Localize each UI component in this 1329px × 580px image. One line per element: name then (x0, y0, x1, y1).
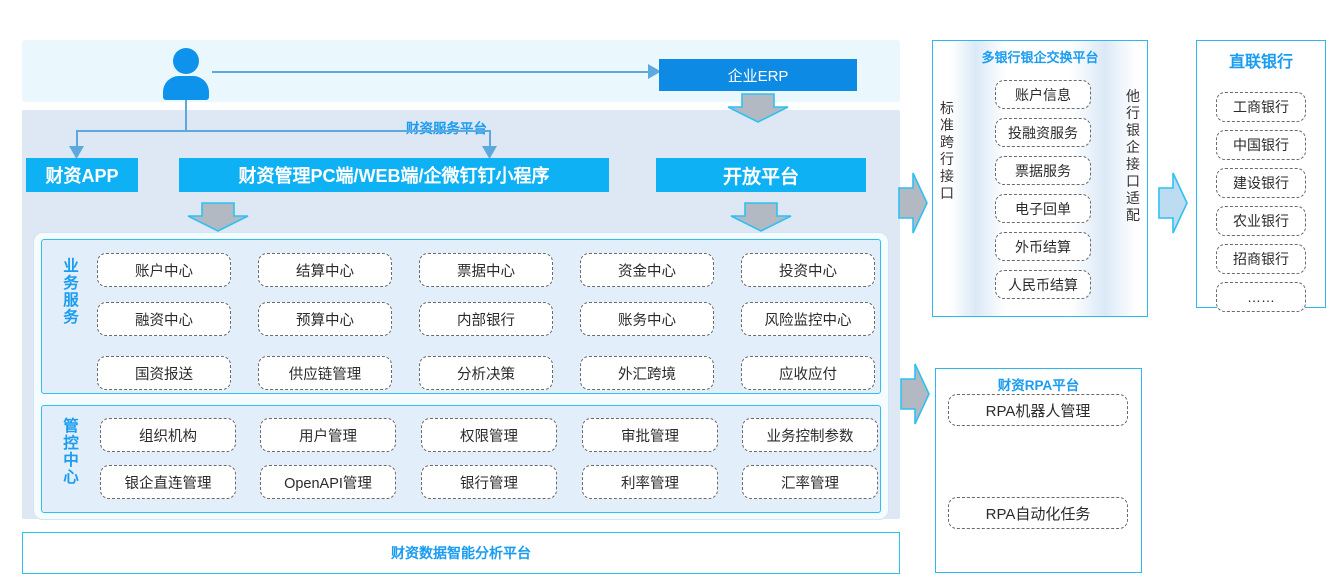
business-service-cell[interactable]: 供应链管理 (258, 356, 392, 390)
cell-label: 账户中心 (135, 260, 193, 281)
multi-bank-item[interactable]: 投融资服务 (995, 118, 1091, 147)
cell-label: 账户信息 (1015, 85, 1071, 105)
management-center-cell[interactable]: 银企直连管理 (100, 465, 236, 499)
management-center-label: 管 控 中 心 (60, 418, 82, 486)
cell-label: 汇率管理 (781, 472, 839, 493)
management-center-cell[interactable]: 用户管理 (260, 418, 396, 452)
standard-interface-vertical-label: 标 准 跨 行 接 口 (937, 100, 957, 202)
right-arrow-icon-directbank (1158, 172, 1188, 234)
cell-label: 建设银行 (1233, 173, 1289, 193)
cell-label: 内部银行 (457, 309, 515, 330)
enterprise-erp-label: 企业ERP (728, 65, 789, 86)
cell-label: 分析决策 (457, 363, 515, 384)
cell-label: 投资中心 (779, 260, 837, 281)
direct-banks-title: 直联银行 (1196, 48, 1326, 72)
cell-label: 招商银行 (1233, 249, 1289, 269)
cell-label: 业务控制参数 (767, 425, 854, 446)
cell-label: 融资中心 (135, 309, 193, 330)
management-center-cell[interactable]: 银行管理 (421, 465, 557, 499)
business-service-cell[interactable]: 账户中心 (97, 253, 231, 287)
treasury-app-label: 财资APP (45, 162, 118, 188)
business-service-cell[interactable]: 风险监控中心 (741, 302, 875, 336)
service-platform-title: 财资服务平台 (406, 117, 487, 137)
cell-label: 农业银行 (1233, 211, 1289, 231)
cell-label: 工商银行 (1233, 97, 1289, 117)
cell-label: 供应链管理 (289, 363, 362, 384)
business-service-cell[interactable]: 应收应付 (741, 356, 875, 390)
cell-label: 账务中心 (618, 309, 676, 330)
business-service-cell[interactable]: 预算中心 (258, 302, 392, 336)
cell-label: …… (1247, 289, 1275, 305)
business-service-cell[interactable]: 分析决策 (419, 356, 553, 390)
business-service-cell[interactable]: 内部银行 (419, 302, 553, 336)
management-center-cell[interactable]: 审批管理 (582, 418, 718, 452)
rpa-item[interactable]: RPA自动化任务 (948, 497, 1128, 529)
cell-label: 外币结算 (1015, 237, 1071, 257)
rpa-platform-title: 财资RPA平台 (935, 374, 1142, 394)
direct-bank-item[interactable]: 中国银行 (1216, 130, 1306, 160)
cell-label: 组织机构 (139, 425, 197, 446)
open-platform-label: 开放平台 (723, 162, 799, 189)
user-icon-head (173, 48, 199, 74)
cell-label: 投融资服务 (1008, 123, 1078, 143)
rpa-item[interactable]: RPA机器人管理 (948, 394, 1128, 426)
open-platform-button[interactable]: 开放平台 (656, 158, 866, 192)
tree-bar (76, 130, 490, 132)
architecture-diagram: 企业ERP 财资服务平台 财资APP 财资管理PC端/WEB端/企微钉钉小程序 … (0, 0, 1329, 580)
cell-label: 利率管理 (621, 472, 679, 493)
management-center-cell[interactable]: 业务控制参数 (742, 418, 878, 452)
multi-bank-item[interactable]: 外币结算 (995, 232, 1091, 261)
user-to-erp-line (212, 71, 652, 73)
cell-label: 银企直连管理 (125, 472, 212, 493)
direct-bank-item[interactable]: …… (1216, 282, 1306, 312)
other-bank-adapter-vertical-label: 他 行 银 企 接 口 适 配 (1123, 88, 1143, 224)
treasury-pc-button[interactable]: 财资管理PC端/WEB端/企微钉钉小程序 (179, 158, 609, 192)
treasury-app-button[interactable]: 财资APP (26, 158, 138, 192)
business-service-cell[interactable]: 国资报送 (97, 356, 231, 390)
cell-label: 审批管理 (621, 425, 679, 446)
multi-bank-item[interactable]: 电子回单 (995, 194, 1091, 223)
management-center-cell[interactable]: 汇率管理 (742, 465, 878, 499)
direct-bank-item[interactable]: 建设银行 (1216, 168, 1306, 198)
bottom-analytics-label: 财资数据智能分析平台 (391, 543, 531, 563)
cell-label: 票据中心 (457, 260, 515, 281)
cell-label: 人民币结算 (1008, 275, 1078, 295)
management-center-cell[interactable]: OpenAPI管理 (260, 465, 396, 499)
business-service-cell[interactable]: 账务中心 (580, 302, 714, 336)
cell-label: 资金中心 (618, 260, 676, 281)
cell-label: 权限管理 (460, 425, 518, 446)
down-arrow-icon-open (730, 202, 792, 232)
direct-bank-item[interactable]: 招商银行 (1216, 244, 1306, 274)
management-center-cell[interactable]: 组织机构 (100, 418, 236, 452)
cell-label: RPA自动化任务 (986, 503, 1091, 524)
enterprise-erp-box[interactable]: 企业ERP (659, 59, 857, 91)
multi-bank-item[interactable]: 票据服务 (995, 156, 1091, 185)
cell-label: 应收应付 (779, 363, 837, 384)
cell-label: 国资报送 (135, 363, 193, 384)
cell-label: 外汇跨境 (618, 363, 676, 384)
cell-label: 票据服务 (1015, 161, 1071, 181)
cell-label: 用户管理 (299, 425, 357, 446)
cell-label: 风险监控中心 (765, 309, 852, 330)
user-icon-body (163, 76, 209, 100)
direct-bank-item[interactable]: 工商银行 (1216, 92, 1306, 122)
business-service-cell[interactable]: 票据中心 (419, 253, 553, 287)
tree-stem (185, 100, 187, 131)
cell-label: RPA机器人管理 (986, 400, 1091, 421)
cell-label: 预算中心 (296, 309, 354, 330)
direct-bank-item[interactable]: 农业银行 (1216, 206, 1306, 236)
down-arrow-icon-pc (187, 202, 249, 232)
cell-label: 结算中心 (296, 260, 354, 281)
business-service-cell[interactable]: 融资中心 (97, 302, 231, 336)
business-service-cell[interactable]: 投资中心 (741, 253, 875, 287)
business-services-label: 业 务 服 务 (60, 258, 82, 326)
multi-bank-item[interactable]: 账户信息 (995, 80, 1091, 109)
cell-label: OpenAPI管理 (284, 472, 372, 493)
bottom-analytics-bar[interactable]: 财资数据智能分析平台 (22, 532, 900, 574)
management-center-cell[interactable]: 利率管理 (582, 465, 718, 499)
cell-label: 中国银行 (1233, 135, 1289, 155)
cell-label: 电子回单 (1015, 199, 1071, 219)
right-arrow-icon-rpa (900, 363, 930, 425)
business-service-cell[interactable]: 外汇跨境 (580, 356, 714, 390)
business-service-cell[interactable]: 结算中心 (258, 253, 392, 287)
business-service-cell[interactable]: 资金中心 (580, 253, 714, 287)
down-arrow-icon-erp (727, 93, 789, 123)
multi-bank-item[interactable]: 人民币结算 (995, 270, 1091, 299)
multi-bank-title: 多银行银企交换平台 (932, 47, 1148, 66)
cell-label: 银行管理 (460, 472, 518, 493)
treasury-pc-label: 财资管理PC端/WEB端/企微钉钉小程序 (239, 162, 550, 188)
right-arrow-icon-multibank (898, 172, 928, 234)
management-center-cell[interactable]: 权限管理 (421, 418, 557, 452)
